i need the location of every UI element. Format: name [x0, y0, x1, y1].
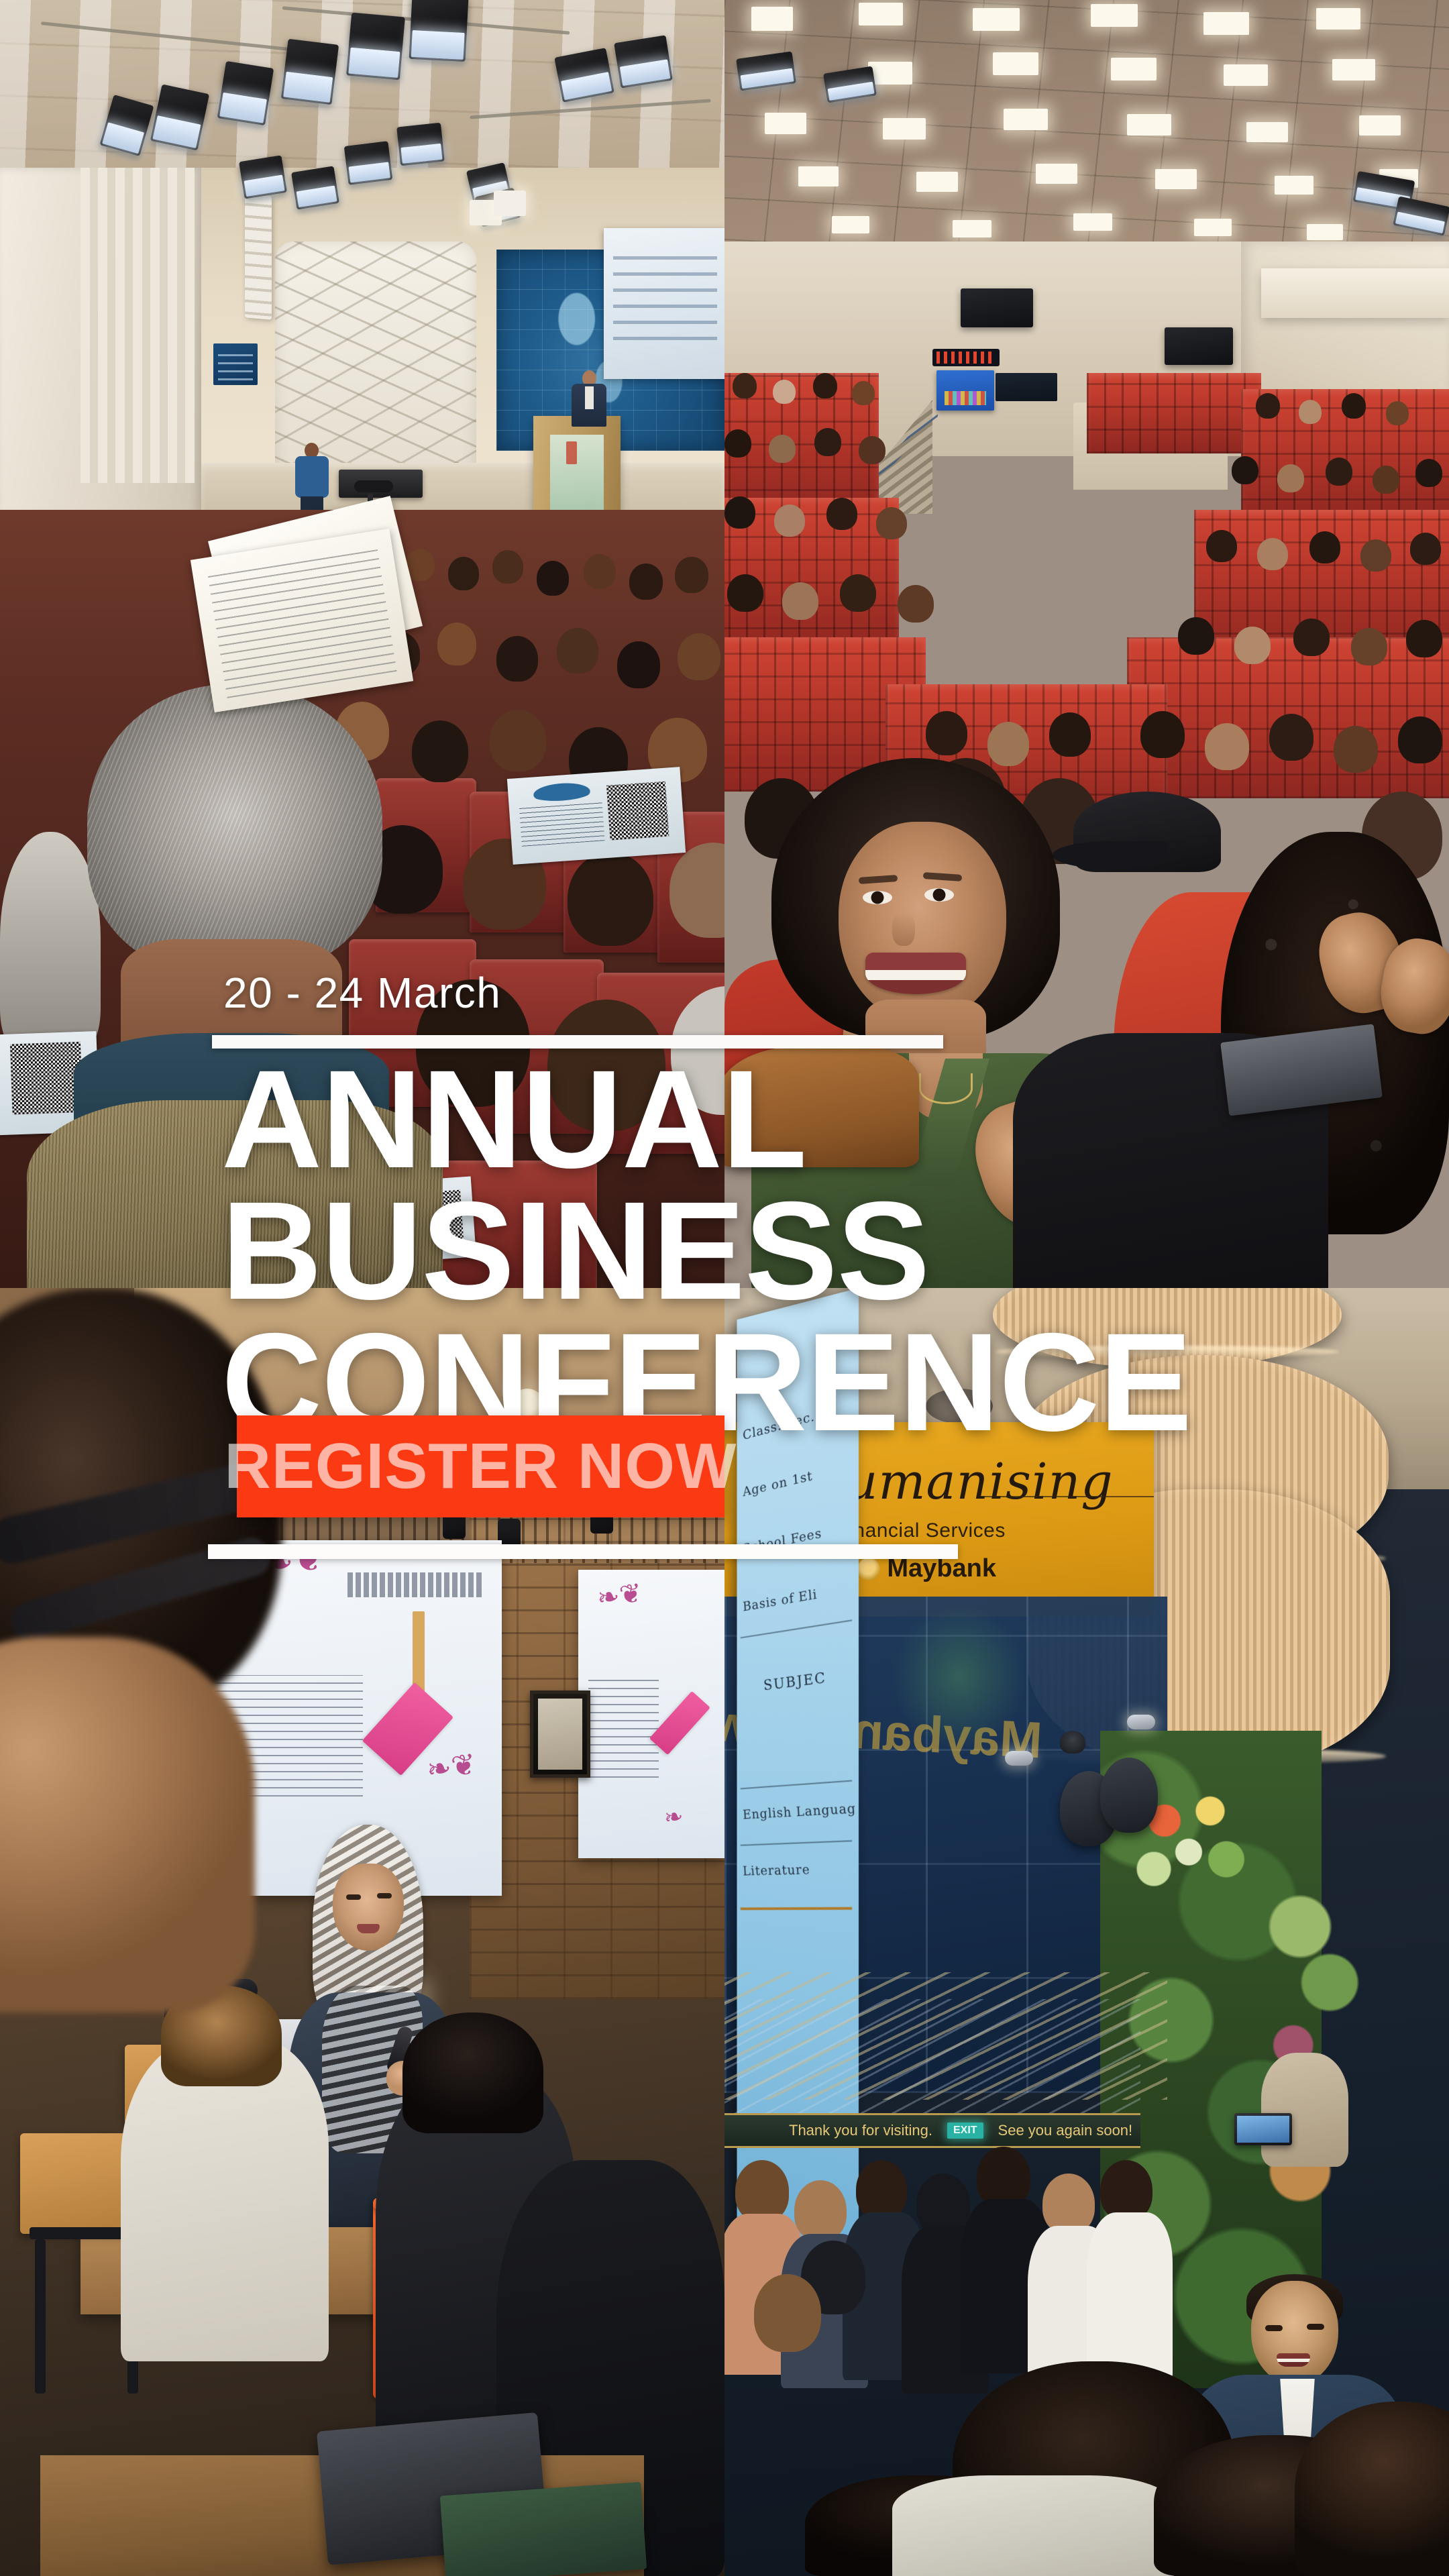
poster-title: ANNUAL BUSINESS CONFERENCE	[221, 1063, 1194, 1439]
date-range: 20 - 24 March	[223, 968, 501, 1018]
poster-text-overlay: 20 - 24 March ANNUAL BUSINESS CONFERENCE…	[0, 0, 1449, 2576]
title-line-2: BUSINESS	[221, 1195, 1194, 1307]
register-now-button[interactable]: REGISTER NOW	[237, 1415, 724, 1517]
divider-rule-bottom	[208, 1544, 958, 1559]
conference-poster: ❧❦ ❧❦ ❧❦ ❧	[0, 0, 1449, 2576]
title-line-1: ANNUAL	[221, 1063, 1194, 1176]
register-now-label: REGISTER NOW	[225, 1430, 737, 1503]
